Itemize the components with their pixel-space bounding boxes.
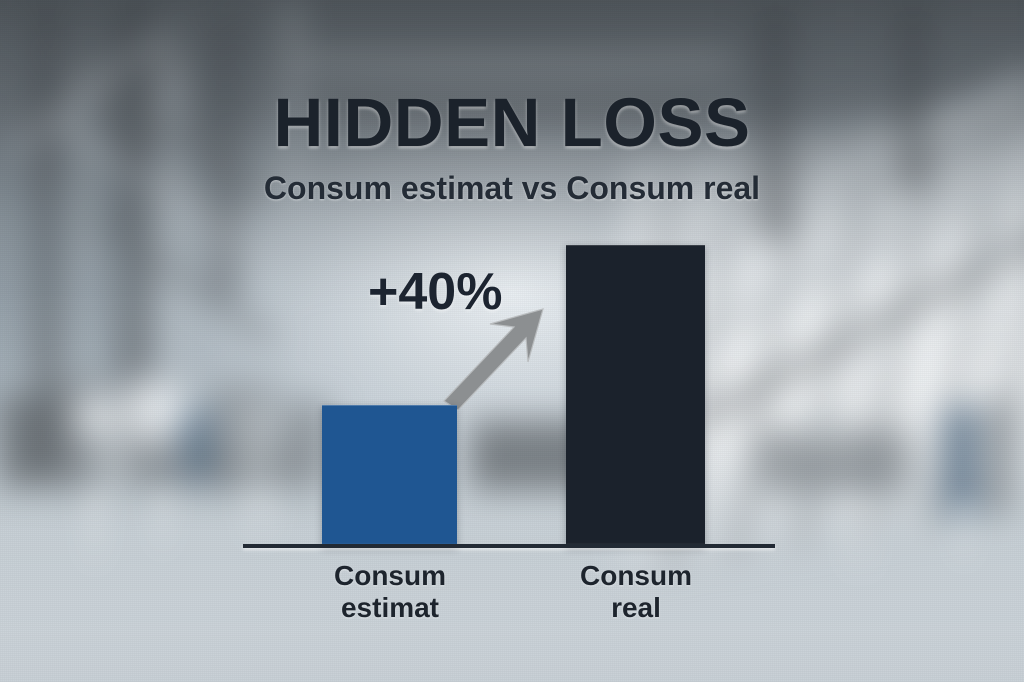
chart-overlay: HIDDEN LOSS Consum estimat vs Consum rea… (0, 0, 1024, 682)
axis-baseline (243, 544, 775, 548)
bar-label-consum-estimat: Consum estimat (275, 560, 505, 625)
page-subtitle: Consum estimat vs Consum real (0, 172, 1024, 206)
bar-label-line1: Consum (334, 560, 446, 591)
up-right-arrow-icon (440, 305, 550, 410)
bar-label-consum-real: Consum real (521, 560, 751, 625)
bar-label-line2: real (521, 592, 751, 624)
page-title: HIDDEN LOSS (0, 88, 1024, 157)
bar-consum-estimat (322, 405, 457, 547)
bar-label-line2: estimat (275, 592, 505, 624)
infographic-canvas: HIDDEN LOSS Consum estimat vs Consum rea… (0, 0, 1024, 682)
bar-label-line1: Consum (580, 560, 692, 591)
bar-consum-real (566, 245, 705, 547)
